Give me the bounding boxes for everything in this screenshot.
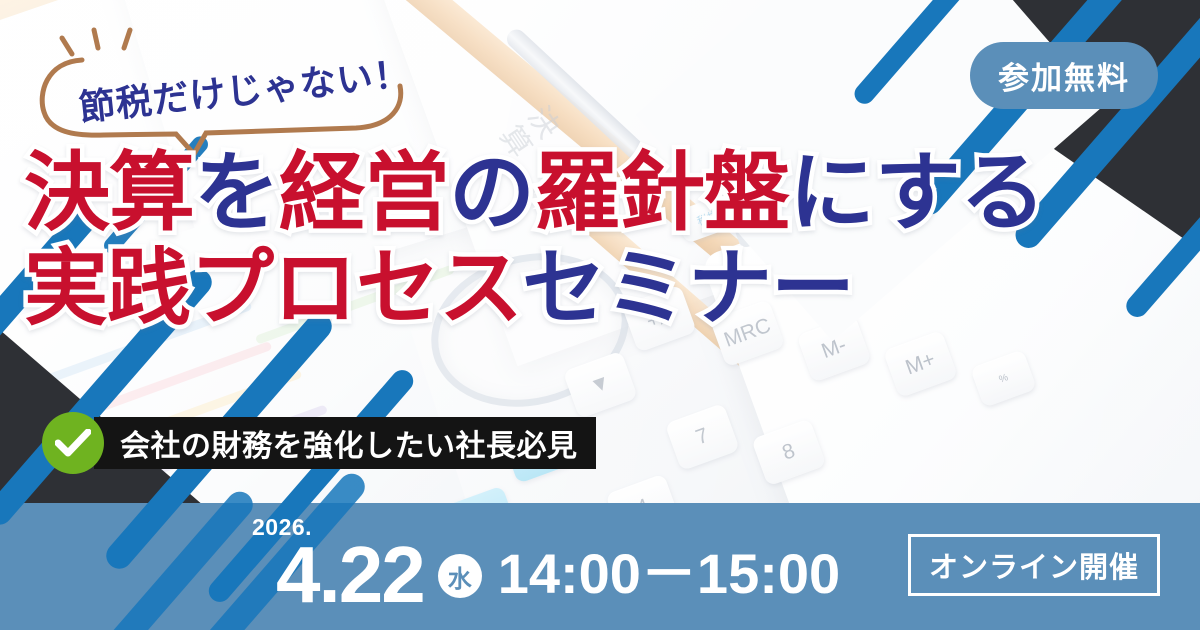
- schedule-day-of-week: 水: [438, 554, 482, 598]
- subtitle-row: 会社の財務を強化したい社長必見: [42, 412, 596, 474]
- headline-segment: を: [194, 145, 279, 241]
- free-admission-badge: 参加無料: [970, 42, 1158, 109]
- schedule-row: 2026. 4.22 水 14:00－15:00: [252, 512, 840, 612]
- headline-segment: 羅針盤: [534, 145, 789, 241]
- headline-line-2: 実践プロセスセミナー: [24, 246, 1194, 332]
- headline: 決算を経営の羅針盤にする 実践プロセスセミナー: [24, 150, 1194, 331]
- headline-segment: にする: [789, 145, 1045, 241]
- check-icon: [42, 412, 104, 474]
- headline-segment: 決算: [24, 145, 194, 241]
- headline-segment: 経営: [279, 145, 449, 241]
- headline-segment: の: [449, 145, 534, 241]
- headline-segment: セミナー: [522, 241, 854, 335]
- seminar-banner: 決算 税抜 税込 +/- ▼ MRC M- M+ C AC 7 4 8 0 1 …: [0, 0, 1200, 630]
- schedule-date: 4.22: [276, 538, 424, 612]
- subtitle-text: 会社の財務を強化したい社長必見: [94, 417, 596, 469]
- headline-segment: プロセス: [190, 241, 522, 335]
- headline-line-1: 決算を経営の羅針盤にする: [24, 150, 1194, 238]
- schedule-year: 2026.: [252, 516, 312, 539]
- schedule-time: 14:00－15:00: [498, 546, 840, 602]
- check-glyph: [55, 429, 91, 457]
- online-format-badge: オンライン開催: [908, 534, 1160, 596]
- headline-segment: 実践: [24, 241, 190, 335]
- catchphrase-bubble: 節税だけじゃない！: [26, 36, 438, 146]
